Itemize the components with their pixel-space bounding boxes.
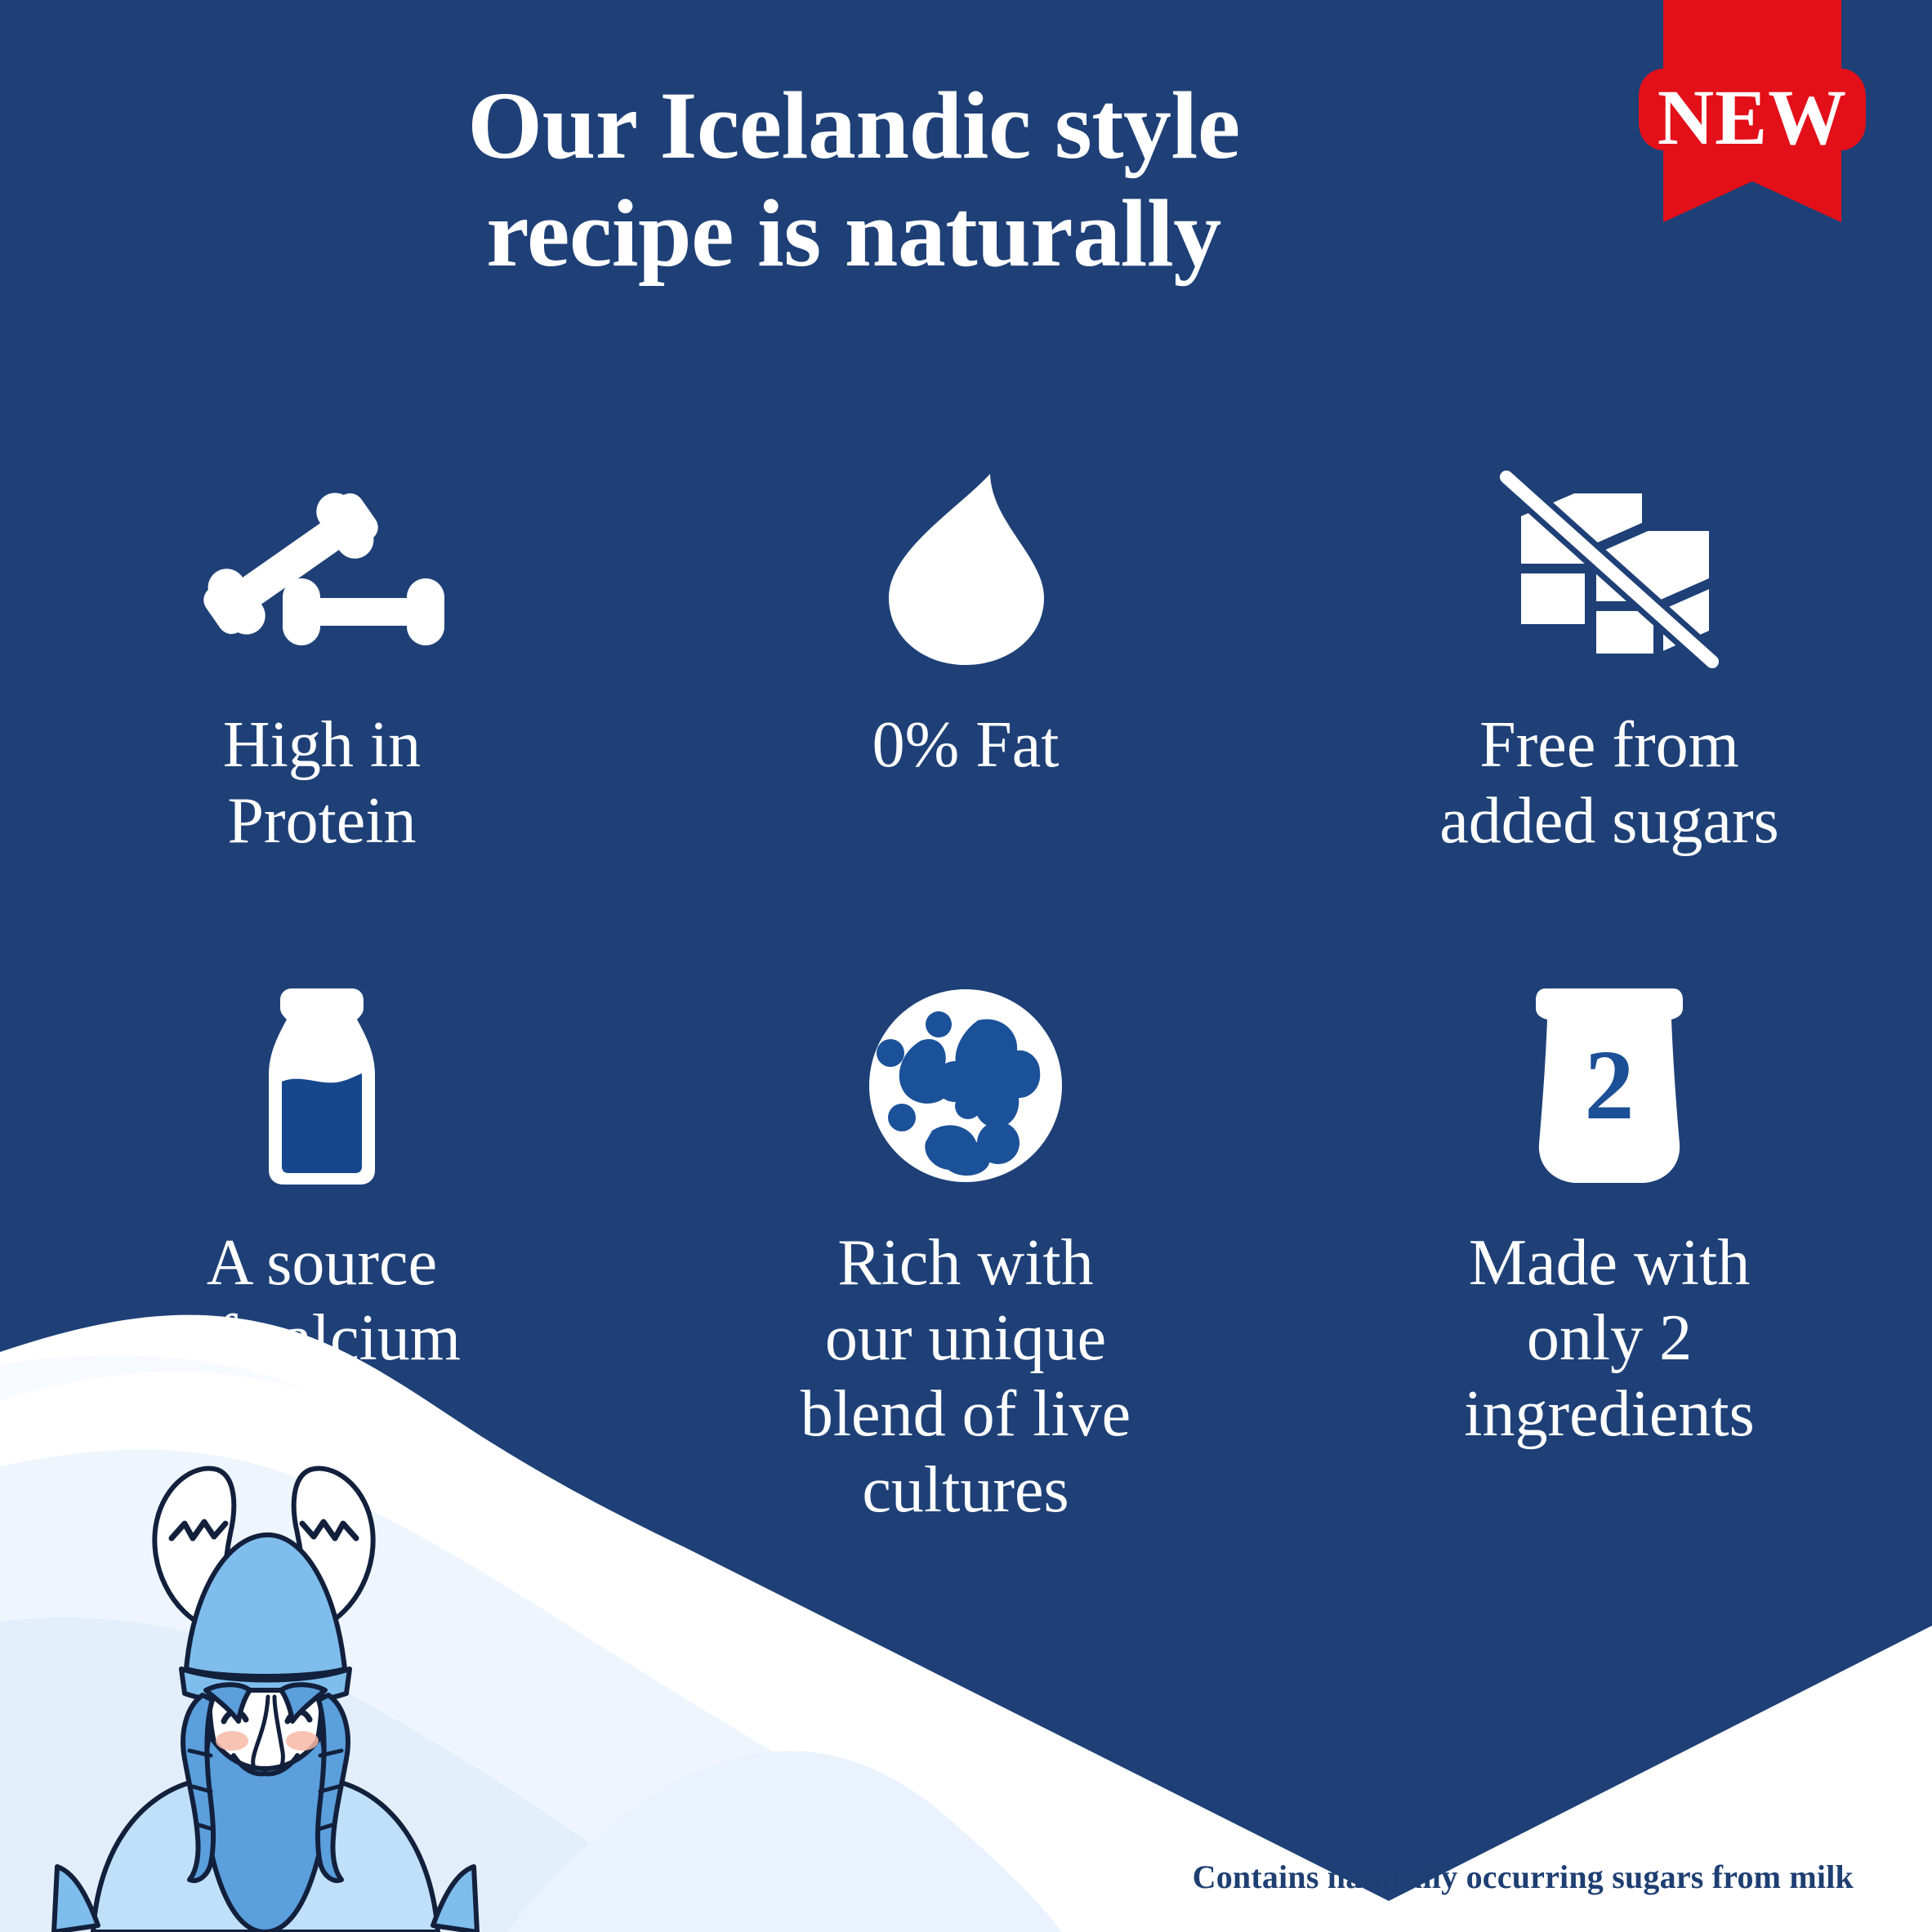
benefit-source-of-calcium: A source of calcium: [0, 943, 644, 1528]
benefit-label-line: Free from added sugars: [1439, 707, 1778, 859]
benefit-label: Rich with our unique blend of live cultu…: [801, 1225, 1131, 1528]
benefit-live-cultures: Rich with our unique blend of live cultu…: [644, 943, 1287, 1528]
benefit-high-in-protein: High in Protein: [0, 425, 644, 859]
headline-line-2: recipe is naturally: [106, 180, 1601, 288]
benefit-label-line: Rich with our unique blend of live cultu…: [801, 1225, 1131, 1528]
benefits-row-2: A source of calcium: [0, 943, 1932, 1528]
benefit-label-line: High in Protein: [223, 707, 421, 859]
headline-line-1: Our Icelandic style: [106, 72, 1601, 180]
benefit-label-line: 0% Fat: [872, 707, 1060, 783]
benefit-no-added-sugars: Free from added sugars: [1287, 425, 1931, 859]
benefit-label-line: Made with only 2 ingredients: [1464, 1225, 1754, 1452]
benefits-row-1: High in Protein 0% Fat: [0, 425, 1932, 859]
benefit-zero-fat: 0% Fat: [644, 425, 1287, 859]
dumbbells-icon: [199, 425, 444, 670]
benefit-label: 0% Fat: [872, 707, 1060, 783]
infographic-canvas: NEW Our Icelandic style recipe is natura…: [0, 0, 1932, 1932]
new-badge-label: NEW: [1634, 78, 1871, 157]
benefit-label: High in Protein: [223, 707, 421, 859]
yogurt-pot-icon: 2: [1528, 943, 1691, 1188]
pot-number: 2: [1585, 1030, 1635, 1140]
benefit-label: A source of calcium: [183, 1225, 461, 1377]
new-badge: NEW: [1634, 0, 1871, 237]
live-cultures-icon: [863, 943, 1068, 1188]
milk-bottle-icon: [252, 943, 391, 1188]
footnote-text: Contains naturally occurring sugars from…: [1193, 1858, 1854, 1896]
water-droplet-icon: [884, 425, 1047, 670]
page-title: Our Icelandic style recipe is naturally: [106, 72, 1601, 288]
benefit-two-ingredients: 2 Made with only 2 ingredients: [1287, 943, 1931, 1528]
benefit-label: Made with only 2 ingredients: [1464, 1225, 1754, 1452]
benefits-grid: High in Protein 0% Fat: [0, 425, 1932, 1528]
no-sugar-cubes-icon: [1495, 425, 1724, 670]
benefit-label: Free from added sugars: [1439, 707, 1778, 859]
benefit-label-line: A source of calcium: [183, 1225, 461, 1377]
